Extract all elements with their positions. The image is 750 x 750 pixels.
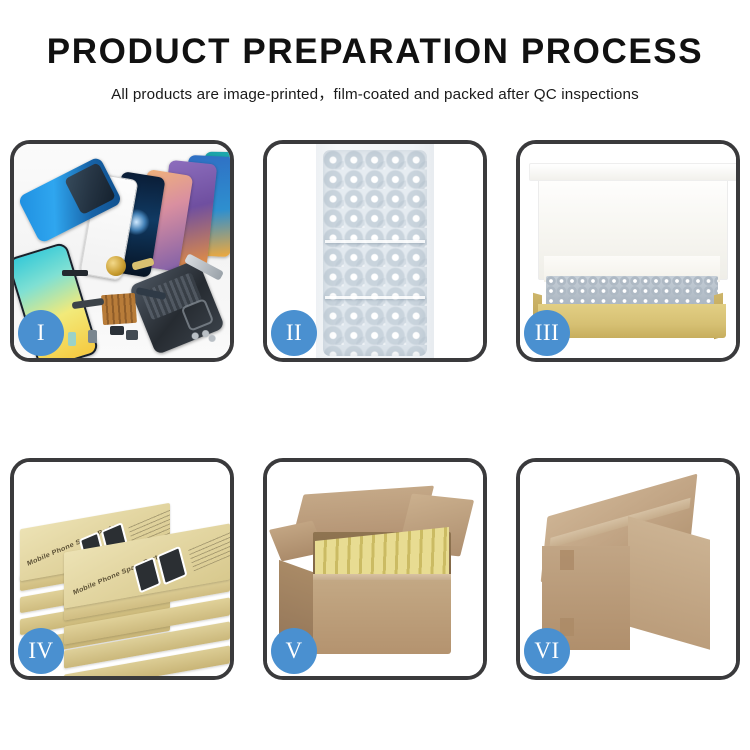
process-step-panel-5: V (263, 458, 487, 680)
inner-box-bubble-contents (546, 276, 718, 306)
gold-coil-part (106, 256, 126, 276)
process-step-panel-6: VI (516, 458, 740, 680)
carton-front-wall (309, 580, 451, 654)
step-badge-2: II (271, 310, 317, 356)
small-component-b (88, 330, 97, 343)
sealed-carton-right-face (628, 516, 710, 650)
page-subtitle: All products are image-printed，film-coat… (0, 82, 750, 104)
step-badge-4: IV (18, 628, 64, 674)
small-component-d (68, 332, 76, 346)
process-step-grid: I II III (10, 140, 740, 680)
step-badge-3: III (524, 310, 570, 356)
small-component-c (126, 330, 138, 340)
process-step-panel-1: I (10, 140, 234, 362)
bubble-wrap-seam-bottom (325, 296, 425, 299)
retail-box-spec-lines-right (188, 527, 230, 572)
process-step-panel-3: III (516, 140, 740, 362)
step-badge-5: V (271, 628, 317, 674)
retail-box-phone-graphic-right-b (156, 546, 187, 586)
process-step-panel-2: II (263, 140, 487, 362)
page-title: PRODUCT PREPARATION PROCESS (0, 34, 750, 71)
copper-chip-grid (101, 293, 137, 325)
small-component-a (110, 326, 124, 335)
screws-group (190, 330, 216, 342)
step-badge-6: VI (524, 628, 570, 674)
bubble-wrap-seam-top (325, 240, 425, 243)
process-step-panel-4: Mobile Phone Spare Parts Mobile Phone Sp… (10, 458, 234, 680)
bubble-wrap-bubbles (323, 150, 427, 356)
speaker-part (62, 270, 88, 276)
step-badge-1: I (18, 310, 64, 356)
sealed-carton-seam-top (560, 550, 574, 570)
page-header: PRODUCT PREPARATION PROCESS All products… (0, 0, 750, 104)
